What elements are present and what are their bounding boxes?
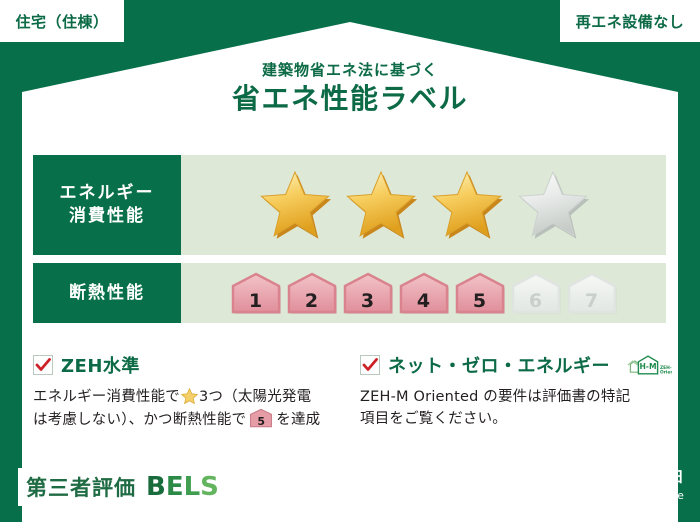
grade-number: 5 [454, 292, 506, 311]
insulation-performance-row: 断熱性能 1234567 [33, 263, 666, 323]
check-icon [35, 357, 51, 373]
grade-step-inactive: 7 [566, 271, 618, 315]
tag-renewable-equipment-label: 再エネ設備なし [576, 11, 685, 32]
energy-performance-row: エネルギー 消費性能 [33, 155, 666, 255]
grade-number: 6 [510, 292, 562, 311]
insulation-label: 断熱性能 [69, 282, 145, 305]
zeh-desc-star-note: 3つ（太陽光発電 [199, 389, 311, 405]
tag-housing-type-label: 住宅（住棟） [15, 11, 108, 32]
nze-checkbox [360, 355, 380, 375]
bels-logo: BELS [146, 472, 219, 502]
energy-label-line1: エネルギー [60, 182, 155, 205]
zeh-desc-part1: エネルギー消費性能で [33, 389, 180, 405]
energy-stars-area [181, 155, 666, 255]
grade-step-active: 3 [342, 271, 394, 315]
insulation-grades-area: 1234567 [181, 263, 666, 323]
zeh-standard-block: ZEH水準 エネルギー消費性能で3つ（太陽光発電 は考慮しない）、かつ断熱性能で… [33, 352, 338, 432]
zeh-desc-part2: は考慮しない）、かつ断熱性能で [33, 412, 246, 428]
star-filled-icon [344, 169, 418, 241]
insulation-performance-label-box: 断熱性能 [33, 263, 181, 323]
net-zero-energy-block: ネット・ゼロ・エネルギー H-M ZEH-M Oriented ZEH-M Or… [360, 352, 672, 431]
zeh-m-logo-text: H-M [639, 362, 656, 371]
net-zero-energy-header: ネット・ゼロ・エネルギー H-M ZEH-M Oriented [360, 352, 672, 378]
tag-housing-type: 住宅（住棟） [0, 0, 124, 42]
zeh-standard-header: ZEH水準 [33, 352, 338, 378]
inline-grade-badge: 5 [248, 408, 274, 428]
bels-letter-l: L [184, 472, 201, 502]
grade-number: 3 [342, 292, 394, 311]
net-zero-energy-title: ネット・ゼロ・エネルギー [388, 352, 610, 378]
grade-number: 7 [566, 292, 618, 311]
third-party-evaluation-label: 第三者評価 [26, 472, 136, 502]
grade-step-active: 5 [454, 271, 506, 315]
star-filled-icon [430, 169, 504, 241]
energy-performance-label: 住宅（住棟） 再エネ設備なし 建築物省エネ法に基づく 省エネ性能ラベル エネルギ… [0, 0, 700, 522]
zeh-desc-part3: を達成 [276, 412, 320, 428]
grade-step-active: 4 [398, 271, 450, 315]
tag-renewable-equipment: 再エネ設備なし [560, 0, 700, 42]
star-rating [258, 169, 590, 241]
energy-label-line2: 消費性能 [69, 205, 145, 228]
nze-desc-line1: ZEH-M Oriented の要件は評価書の特記 [360, 389, 630, 405]
grade-step-inactive: 6 [510, 271, 562, 315]
zeh-standard-title: ZEH水準 [61, 352, 140, 378]
page-title: 省エネ性能ラベル [0, 84, 700, 115]
evaluation-meta: 評価日 2025年7月23日 9c3a4501-2add-4e8e [517, 466, 684, 502]
grade-step-active: 1 [230, 271, 282, 315]
check-icon [362, 357, 378, 373]
zeh-checkbox [33, 355, 53, 375]
grade-number: 2 [286, 292, 338, 311]
label-footer: 第三者評価 BELS D-ROOM長田二丁目 評価日 2025年7月23日 9c… [0, 460, 700, 522]
grade-number: 1 [230, 292, 282, 311]
bels-letter-b: B [146, 472, 166, 502]
bels-letter-e: E [166, 472, 184, 502]
bels-letter-s: S [200, 472, 219, 502]
evaluation-date: 評価日 2025年7月23日 [517, 466, 684, 487]
building-name: D-ROOM長田二丁目 [235, 468, 370, 506]
star-filled-icon [258, 169, 332, 241]
energy-performance-label-box: エネルギー 消費性能 [33, 155, 181, 255]
bels-badge: 第三者評価 BELS [18, 468, 229, 506]
grade-step-active: 2 [286, 271, 338, 315]
inline-star-icon [181, 388, 198, 404]
label-title-block: 建築物省エネ法に基づく 省エネ性能ラベル [0, 62, 700, 114]
star-empty-icon [516, 169, 590, 241]
grade-number: 4 [398, 292, 450, 311]
zeh-m-oriented-logo-icon: H-M ZEH-M Oriented [624, 349, 672, 381]
evaluation-id: 9c3a4501-2add-4e8e [517, 490, 684, 502]
zeh-standard-description: エネルギー消費性能で3つ（太陽光発電 は考慮しない）、かつ断熱性能で5を達成 [33, 386, 338, 432]
grade-scale: 1234567 [230, 271, 618, 315]
nze-desc-line2: 項目をご覧ください。 [360, 411, 507, 427]
zeh-m-logo-sub2: Oriented [660, 369, 672, 375]
title-subtitle: 建築物省エネ法に基づく [0, 62, 700, 79]
inline-grade-number: 5 [248, 416, 274, 427]
net-zero-energy-description: ZEH-M Oriented の要件は評価書の特記 項目をご覧ください。 [360, 386, 672, 431]
